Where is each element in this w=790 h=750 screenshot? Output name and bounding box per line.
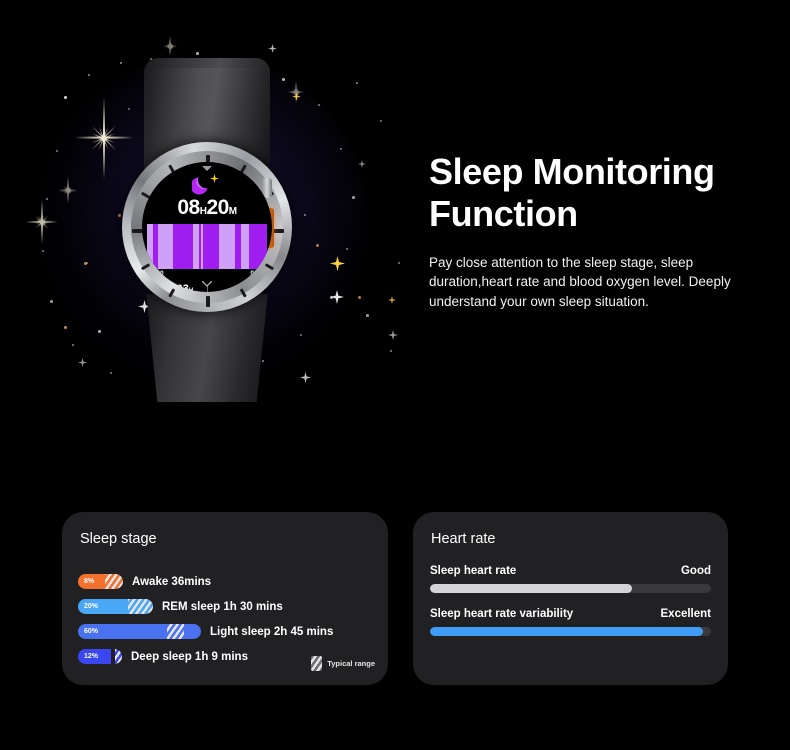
star-dot	[72, 344, 74, 346]
heart-rate-track	[430, 584, 711, 593]
heart-rate-metric-name: Sleep heart rate variability	[430, 608, 573, 620]
star-dot	[42, 250, 44, 252]
watch-screen[interactable]: 08H20M 10:30 06:50 03H20M03H20M	[142, 162, 272, 292]
star-dot	[64, 96, 67, 99]
heart-rate-row-header: Sleep heart rate variabilityExcellent	[430, 608, 711, 620]
heart-rate-fill	[430, 627, 703, 636]
sleep-duration-display: 08H20M	[142, 197, 272, 218]
heart-rate-card: Heart rate Sleep heart rateGoodSleep hea…	[413, 512, 728, 685]
sleep-stage-label: Awake 36mins	[132, 576, 211, 588]
hypnogram-band	[249, 224, 267, 269]
bar-solid-fill: 8%	[78, 574, 105, 589]
bezel-tick	[273, 229, 284, 233]
watch-stat-values: 03H20M	[238, 284, 255, 292]
sparkle-star-icon	[388, 330, 398, 340]
hatched-swatch-icon	[311, 656, 322, 671]
star-dot	[398, 262, 400, 264]
title-line-2: Function	[429, 193, 578, 234]
sleep-stage-label: REM sleep 1h 30 mins	[162, 601, 283, 613]
typical-range-legend: Typical range	[311, 656, 375, 671]
hypnogram-band	[158, 224, 174, 269]
star-dot	[88, 74, 90, 76]
star-dot	[366, 314, 369, 317]
hypnogram-band	[173, 224, 192, 269]
bezel-tick	[206, 296, 210, 307]
chevron-up-icon	[202, 166, 212, 172]
sleep-stage-row: 60%Light sleep 2h 45 mins	[78, 619, 376, 644]
hero-section: 08H20M 10:30 06:50 03H20M03H20M Sleep Mo…	[0, 0, 790, 470]
sleep-stage-row: 20%REM sleep 1h 30 mins	[78, 594, 376, 619]
bar-typical-range	[105, 574, 123, 589]
sleep-stage-row: 8%Awake 36mins	[78, 569, 376, 594]
bar-solid-fill: 20%	[78, 599, 128, 614]
star-dot	[380, 120, 382, 122]
heart-rate-row-header: Sleep heart rateGood	[430, 565, 711, 577]
crescent-moon-icon	[192, 175, 212, 195]
axis-start-time: 10:30	[147, 270, 164, 277]
heart-rate-row: Sleep heart rate variabilityExcellent	[430, 608, 711, 636]
star-dot-warm	[84, 262, 87, 265]
heart-rate-track	[430, 627, 711, 636]
star-dot-warm	[358, 296, 361, 299]
bar-percent-label: 12%	[78, 653, 98, 660]
heart-rate-rows: Sleep heart rateGoodSleep heart rate var…	[430, 565, 711, 651]
hypnogram-band	[219, 224, 235, 269]
crescent-moon-icon	[220, 288, 235, 292]
heart-rate-fill	[430, 584, 632, 593]
heart-rate-row: Sleep heart rateGood	[430, 565, 711, 593]
stat-hours: 03	[177, 283, 189, 292]
bar-solid-fill: 60%	[78, 624, 167, 639]
bar-percent-label: 60%	[78, 628, 98, 635]
star-dot	[340, 148, 342, 150]
heart-rate-status-badge: Good	[681, 565, 711, 577]
title-line-1: Sleep Monitoring	[429, 151, 715, 192]
sleep-stage-title: Sleep stage	[80, 531, 157, 547]
heart-rate-status-badge: Excellent	[661, 608, 712, 620]
bar-percent-label: 20%	[78, 603, 98, 610]
hypnogram-axis: 10:30 06:50	[147, 270, 267, 277]
star-dot-warm	[316, 244, 319, 247]
sleep-stage-label: Light sleep 2h 45 mins	[210, 626, 333, 638]
star-dot	[352, 196, 355, 199]
page-description: Pay close attention to the sleep stage, …	[429, 253, 774, 310]
watch-stat-values: 03H20M	[177, 284, 194, 292]
bezel-tick	[132, 229, 143, 233]
bar-solid-fill: 12%	[78, 649, 111, 664]
hypnogram-band	[203, 224, 219, 269]
watch-stat-block: 03H20M	[146, 284, 207, 292]
sleep-stage-rows: 8%Awake 36mins20%REM sleep 1h 30 mins60%…	[78, 569, 376, 669]
chevron-down-icon	[202, 281, 212, 287]
star-dot	[50, 300, 53, 303]
sleep-stage-label: Deep sleep 1h 9 mins	[131, 651, 248, 663]
star-dot	[196, 52, 199, 55]
star-dot	[390, 350, 392, 352]
hypnogram-band	[241, 224, 249, 269]
stat-hours-unit: H	[189, 288, 193, 292]
sparkle-star-icon	[78, 358, 87, 367]
smartwatch-product-image: 08H20M 10:30 06:50 03H20M03H20M	[98, 58, 314, 398]
page-title: Sleep Monitoring Function	[429, 151, 774, 235]
sleep-stage-card: Sleep stage 8%Awake 36mins20%REM sleep 1…	[62, 512, 388, 685]
sleep-stage-bar: 60%	[78, 624, 201, 639]
sleep-hypnogram-chart	[147, 224, 267, 269]
bar-tail-fill	[184, 624, 201, 639]
sparkle-star-icon-yellow	[388, 296, 396, 304]
sleep-stage-bar: 20%	[78, 599, 153, 614]
star-dot-warm	[64, 326, 67, 329]
heart-rate-metric-name: Sleep heart rate	[430, 565, 516, 577]
axis-end-time: 06:50	[250, 270, 267, 277]
bar-typical-range	[128, 599, 153, 614]
stat-hours: 03	[238, 283, 250, 292]
sleep-stage-bar: 12%	[78, 649, 122, 664]
sleep-hours-value: 08	[177, 196, 199, 219]
sleep-minutes-unit: M	[229, 206, 237, 217]
sparkle-star-icon	[268, 44, 277, 53]
bar-typical-range	[167, 624, 184, 639]
typical-range-label: Typical range	[327, 659, 375, 668]
sleep-minutes-value: 20	[206, 196, 228, 219]
sleep-stage-bar: 8%	[78, 574, 123, 589]
crescent-moon-icon	[159, 288, 174, 292]
bar-percent-label: 8%	[78, 578, 94, 585]
star-dot	[356, 82, 358, 84]
bar-typical-range	[115, 649, 122, 664]
watch-stat-block: 03H20M	[208, 284, 269, 292]
marketing-copy: Sleep Monitoring Function Pay close atte…	[429, 151, 774, 311]
heart-rate-title: Heart rate	[431, 531, 495, 547]
stat-hours-unit: H	[250, 288, 254, 292]
